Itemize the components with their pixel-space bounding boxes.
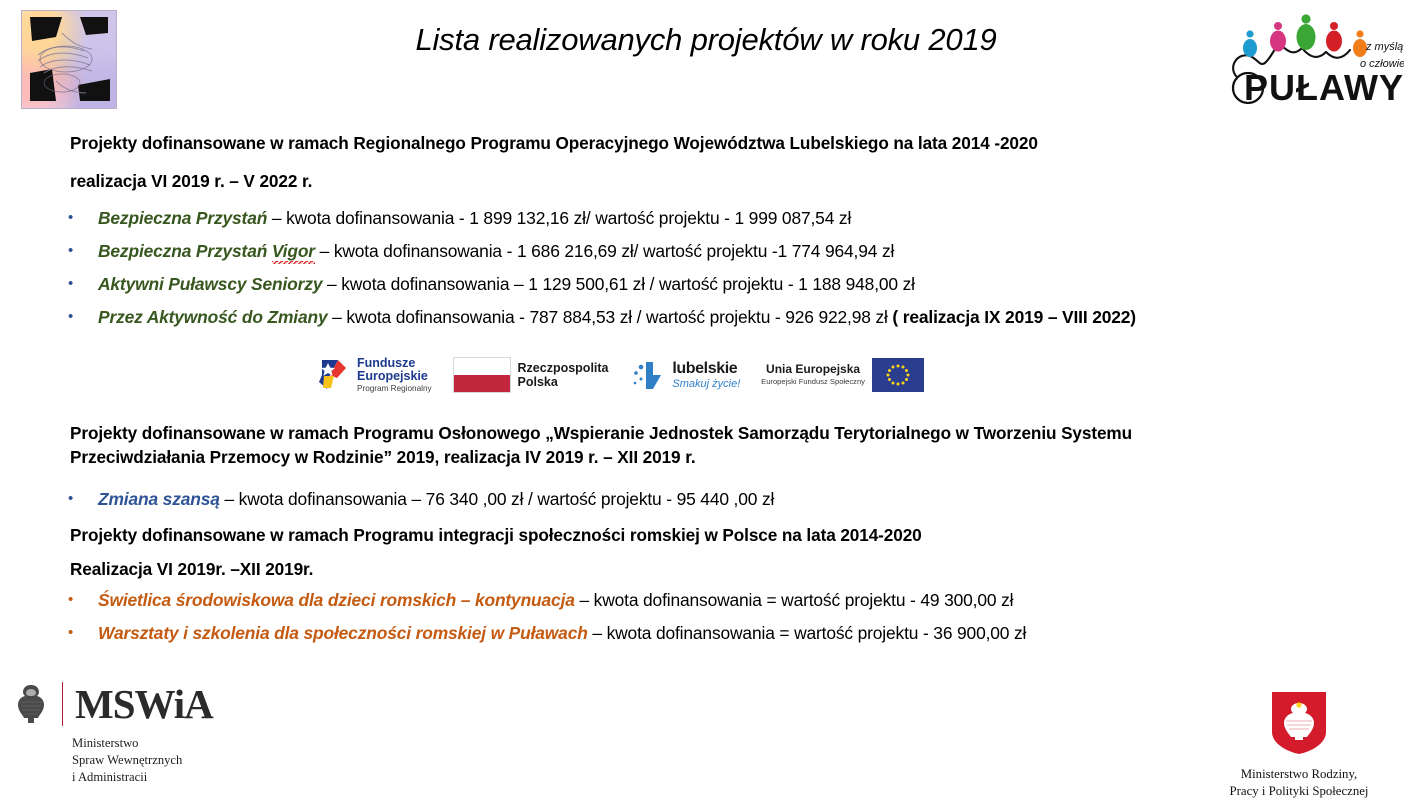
list-item: •Zmiana szansą – kwota dofinansowania – …: [68, 488, 1398, 510]
project-details: – kwota dofinansowania – 1 129 500,61 zł…: [322, 274, 915, 294]
bullet-icon: •: [68, 207, 98, 229]
bullet-icon: •: [68, 488, 98, 510]
project-name: Warsztaty i szkolenia dla społeczności r…: [98, 623, 588, 643]
section1-heading-line2: realizacja VI 2019 r. – V 2022 r.: [70, 169, 1370, 193]
project-name: Bezpieczna Przystań: [98, 241, 272, 261]
mswia-subtitle: Ministerstwo Spraw Wewnętrznych i Admini…: [72, 735, 260, 786]
rzeczpospolita-line2: Polska: [518, 375, 609, 389]
fundusze-line3: Program Regionalny: [357, 385, 432, 394]
unia-line2: Europejski Fundusz Społeczny: [761, 378, 865, 386]
polish-flag-icon: [453, 357, 511, 393]
bullet-icon: •: [68, 273, 98, 295]
lubelskie-line2: Smakuj życie!: [672, 379, 740, 390]
mswia-sub-line3: i Administracii: [72, 769, 260, 786]
mswia-logo: MSWiA Ministerstwo Spraw Wewnętrznych i …: [10, 680, 260, 798]
mswia-sub-line1: Ministerstwo: [72, 735, 260, 752]
section2-heading: Projekty dofinansowane w ramach Programu…: [70, 421, 1320, 469]
mswia-sub-line2: Spraw Wewnętrznych: [72, 752, 260, 769]
project-details: – kwota dofinansowania - 1 899 132,16 zł…: [267, 208, 851, 228]
list-item: •Aktywni Puławscy Seniorzy – kwota dofin…: [68, 273, 1398, 295]
section2-heading-line2: Przeciwdziałania Przemocy w Rodzinie” 20…: [70, 445, 1320, 469]
fundusze-europejskie-logo: Fundusze Europejskie Program Regionalny: [316, 357, 432, 393]
project-name: Przez Aktywność do Zmiany: [98, 307, 327, 327]
polish-coat-of-arms: [1268, 690, 1330, 756]
list-item: •Bezpieczna Przystań – kwota dofinansowa…: [68, 207, 1398, 229]
svg-text:o człowieku: o człowieku: [1360, 58, 1404, 70]
bullet-icon: •: [68, 622, 98, 644]
funding-logo-strip: Fundusze Europejskie Program Regionalny …: [316, 352, 924, 398]
bullet-icon: •: [68, 240, 98, 262]
slide-canvas: Lista realizowanych projektów w roku 201…: [0, 0, 1412, 806]
lubelskie-line1: lubelskie: [672, 361, 740, 377]
lubelskie-icon: [629, 358, 665, 392]
mrpips-sub-line1: Ministerstwo Rodziny,: [1208, 766, 1390, 783]
project-details: – kwota dofinansowania - 787 884,53 zł /…: [327, 307, 887, 327]
project-name: Bezpieczna Przystań: [98, 208, 267, 228]
page-title: Lista realizowanych projektów w roku 201…: [0, 22, 1412, 58]
project-details: – kwota dofinansowania = wartość projekt…: [588, 623, 1027, 643]
rzeczpospolita-polska-logo: Rzeczpospolita Polska: [453, 357, 609, 393]
list-item: •Bezpieczna Przystań Vigor – kwota dofin…: [68, 240, 1398, 262]
mrpips-logo: Ministerstwo Rodziny, Pracy i Polityki S…: [1208, 690, 1390, 801]
fundusze-europejskie-icon: [316, 358, 350, 392]
section3-heading-line1: Projekty dofinansowane w ramach Programu…: [70, 523, 1320, 547]
mrpips-sub-line2: Pracy i Polityki Społecznej: [1208, 783, 1390, 800]
bullet-icon: •: [68, 589, 98, 611]
polish-eagle-emblem: [10, 680, 52, 728]
section1-heading-line1: Projekty dofinansowane w ramach Regional…: [70, 131, 1370, 155]
list-item: •Przez Aktywność do Zmiany – kwota dofin…: [68, 306, 1398, 328]
svg-text:z myślą: z myślą: [1365, 41, 1403, 53]
mrpips-subtitle: Ministerstwo Rodziny, Pracy i Polityki S…: [1208, 766, 1390, 801]
project-name: Zmiana szansą: [98, 489, 220, 509]
project-name: Aktywni Puławscy Seniorzy: [98, 274, 322, 294]
fundusze-line1: Fundusze: [357, 357, 432, 370]
lubelskie-logo: lubelskie Smakuj życie!: [629, 358, 740, 392]
mswia-divider: [62, 682, 63, 726]
list-item: •Świetlica środowiskowa dla dzieci romsk…: [68, 589, 1398, 611]
project-details: – kwota dofinansowania - 1 686 216,69 zł…: [315, 241, 894, 261]
project-details: – kwota dofinansowania = wartość projekt…: [575, 590, 1014, 610]
fundusze-line2: Europejskie: [357, 370, 432, 383]
project-details: – kwota dofinansowania – 76 340 ,00 zł /…: [220, 489, 774, 509]
eu-flag-icon: [872, 358, 924, 392]
pulawy-logo: PUŁAWY z myślą o człowieku: [1208, 4, 1404, 108]
list-item: •Warsztaty i szkolenia dla społeczności …: [68, 622, 1398, 644]
project-name: Świetlica środowiskowa dla dzieci romski…: [98, 590, 575, 610]
bullet-icon: •: [68, 306, 98, 328]
pulawy-wordmark: PUŁAWY: [1244, 67, 1404, 108]
unia-europejska-logo: Unia Europejska Europejski Fundusz Społe…: [761, 358, 924, 392]
project-name-misspelled: Vigor: [272, 241, 315, 264]
mswia-wordmark: MSWiA: [75, 680, 213, 728]
section2-heading-line1: Projekty dofinansowane w ramach Programu…: [70, 421, 1320, 445]
project-period-note: ( realizacja IX 2019 – VIII 2022): [888, 307, 1136, 327]
unia-line1: Unia Europejska: [761, 363, 865, 376]
section3-heading-line2: Realizacja VI 2019r. –XII 2019r.: [70, 557, 1320, 581]
rzeczpospolita-line1: Rzeczpospolita: [518, 361, 609, 375]
